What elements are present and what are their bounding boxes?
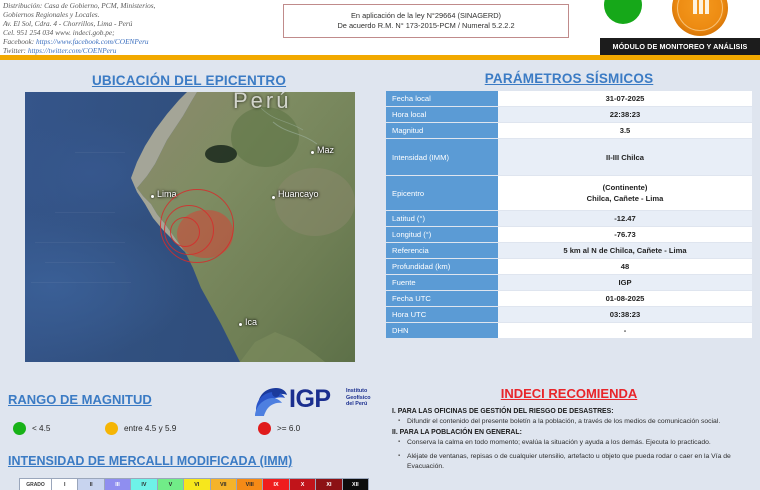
legend-label: < 4.5 — [32, 424, 50, 433]
legend-item: entre 4.5 y 5.9 — [105, 422, 176, 435]
table-row: Fuente IGP — [386, 275, 752, 290]
city-label-ica: Ica — [245, 317, 257, 327]
recommendations-title: INDECI RECOMIENDA — [378, 386, 760, 401]
param-value: 48 — [498, 259, 752, 274]
magnitude-dot-green-icon — [13, 422, 26, 435]
seismic-parameters-table: Fecha local 31-07-2025 Hora local 22:38:… — [386, 90, 752, 339]
table-row: Fecha local 31-07-2025 — [386, 91, 752, 106]
distribution-line: Distribución: Casa de Gobierno, PCM, Min… — [3, 1, 278, 10]
param-value-line-2: Chilca, Cañete - Lima — [502, 193, 748, 204]
distribution-line: Av. El Sol, Cdra. 4 - Chorrillos, Lima -… — [3, 19, 278, 28]
bulletin-page: Distribución: Casa de Gobierno, PCM, Min… — [0, 0, 760, 490]
table-row: Intensidad (IMM) II-III Chilca — [386, 139, 752, 175]
table-row: Fecha UTC 01-08-2025 — [386, 291, 752, 306]
magnitude-legend: < 4.5 entre 4.5 y 5.9 >= 6.0 — [10, 422, 370, 440]
param-value: 01-08-2025 — [498, 291, 752, 306]
epicenter-map[interactable]: Perú Lima Huancayo Maz Ica — [25, 92, 355, 362]
city-label-maz: Maz — [317, 145, 334, 155]
list-item: Conserva la calma en todo momento; evalú… — [392, 438, 752, 447]
table-row: Magnitud 3.5 — [386, 123, 752, 138]
city-dot-ica — [239, 323, 242, 326]
epicenter-map-panel: UBICACIÓN DEL EPICENTRO — [0, 60, 378, 378]
legend-label: >= 6.0 — [277, 424, 300, 433]
mercalli-cell-xii: XII — [343, 479, 368, 490]
igp-globe-icon — [254, 386, 288, 416]
module-bar-label: MÓDULO DE MONITOREO Y ANÁLISIS — [613, 42, 748, 51]
recommendations-heading-2: II. PARA LA POBLACIÓN EN GENERAL: — [392, 429, 752, 436]
epicenter-ring-inner — [170, 217, 200, 247]
param-key: Hora local — [386, 107, 498, 122]
igp-subtitle-line: Geofísico — [346, 395, 371, 402]
mercalli-cell-ii: II — [78, 479, 104, 490]
param-value: 31-07-2025 — [498, 91, 752, 106]
list-item: Difundir el contenido del presente bolet… — [392, 417, 752, 426]
param-value: 22:38:23 — [498, 107, 752, 122]
table-row: Referencia 5 km al N de Chilca, Cañete -… — [386, 243, 752, 258]
indeci-flame-icon — [699, 0, 703, 14]
table-row: Hora UTC 03:38:23 — [386, 307, 752, 322]
list-item: Aléjate de ventanas, repisas o de cualqu… — [392, 452, 752, 470]
param-key: Intensidad (IMM) — [386, 139, 498, 175]
param-key: Referencia — [386, 243, 498, 258]
param-key: Epicentro — [386, 176, 498, 210]
param-key: Fecha local — [386, 91, 498, 106]
table-row: Hora local 22:38:23 — [386, 107, 752, 122]
distribution-line: Gobiernos Regionales y Locales. — [3, 10, 278, 19]
param-value: 5 km al N de Chilca, Cañete - Lima — [498, 243, 752, 258]
indeci-flame-icon — [705, 0, 709, 14]
param-value-line-1: (Continente) — [502, 182, 748, 193]
mercalli-row-label: GRADO — [20, 479, 52, 490]
mercalli-cell-i: I — [52, 479, 78, 490]
facebook-link[interactable]: https://www.facebook.com/COENPeru — [36, 37, 149, 46]
igp-subtitle-line: del Perú — [346, 401, 371, 408]
params-section-title: PARÁMETROS SÍSMICOS — [378, 71, 760, 86]
param-value: -12.47 — [498, 211, 752, 226]
legal-notice-box: En aplicación de la ley N°29664 (SINAGER… — [283, 4, 569, 38]
mercalli-cell-x: X — [290, 479, 316, 490]
param-value: II-III Chilca — [498, 139, 752, 175]
magnitude-dot-red-icon — [258, 422, 271, 435]
map-country-label: Perú — [233, 92, 291, 114]
distribution-block: Distribución: Casa de Gobierno, PCM, Min… — [3, 1, 278, 56]
recommendations-body: I. PARA LAS OFICINAS DE GESTIÓN DEL RIES… — [392, 406, 752, 471]
param-key: Hora UTC — [386, 307, 498, 322]
table-row: Profundidad (km) 48 — [386, 259, 752, 274]
table-row: Latitud (°) -12.47 — [386, 211, 752, 226]
distribution-line: Cel. 951 254 034 www. indeci.gob.pe; — [3, 28, 278, 37]
mercalli-cell-iv: IV — [131, 479, 157, 490]
mercalli-scale-table: GRADO I II III IV V VI VII VIII IX X XI … — [19, 478, 369, 490]
indeci-logo — [672, 0, 728, 36]
mercalli-cell-vii: VII — [211, 479, 237, 490]
table-row: Longitud (°) -76.73 — [386, 227, 752, 242]
legend-item: >= 6.0 — [258, 422, 300, 435]
table-row: Epicentro (Continente) Chilca, Cañete - … — [386, 176, 752, 210]
mercalli-cell-viii: VIII — [237, 479, 263, 490]
param-value: 03:38:23 — [498, 307, 752, 322]
mercalli-cell-v: V — [158, 479, 184, 490]
green-circle-logo — [604, 0, 642, 24]
city-dot-lima — [151, 195, 154, 198]
igp-logo: IGP Instituto Geofísico del Perú — [254, 384, 378, 418]
param-key: Latitud (°) — [386, 211, 498, 226]
mercalli-cell-vi: VI — [184, 479, 210, 490]
igp-subtitle-line: Instituto — [346, 388, 371, 395]
seismic-parameters-panel: PARÁMETROS SÍSMICOS Fecha local 31-07-20… — [378, 60, 760, 378]
param-value: IGP — [498, 275, 752, 290]
param-key: Fecha UTC — [386, 291, 498, 306]
mercalli-scale-title: INTENSIDAD DE MERCALLI MODIFICADA (IMM) — [8, 454, 292, 468]
mercalli-cell-iii: III — [105, 479, 131, 490]
legend-item: < 4.5 — [13, 422, 50, 435]
indeci-flame-icon — [693, 0, 697, 14]
magnitude-range-title: RANGO DE MAGNITUD — [8, 392, 152, 407]
city-dot-huancayo — [272, 196, 275, 199]
param-key: Magnitud — [386, 123, 498, 138]
city-label-huancayo: Huancayo — [278, 189, 319, 199]
map-section-title: UBICACIÓN DEL EPICENTRO — [0, 73, 378, 88]
legal-notice-line-1: En aplicación de la ley N°29664 (SINAGER… — [351, 11, 501, 22]
param-value: 3.5 — [498, 123, 752, 138]
igp-acronym: IGP — [289, 385, 331, 414]
legal-notice-line-2: De acuerdo R.M. N° 173-2015-PCM / Numera… — [337, 21, 514, 32]
legend-label: entre 4.5 y 5.9 — [124, 424, 176, 433]
module-bar: MÓDULO DE MONITOREO Y ANÁLISIS — [600, 38, 760, 55]
page-header: Distribución: Casa de Gobierno, PCM, Min… — [0, 0, 760, 55]
param-key: Longitud (°) — [386, 227, 498, 242]
igp-subtitle: Instituto Geofísico del Perú — [346, 388, 371, 408]
param-value-multiline: (Continente) Chilca, Cañete - Lima — [498, 176, 752, 210]
param-value: -76.73 — [498, 227, 752, 242]
mercalli-cell-ix: IX — [263, 479, 289, 490]
facebook-label: Facebook: — [3, 37, 34, 46]
param-key: DHN — [386, 323, 498, 338]
recommendations-heading-1: I. PARA LAS OFICINAS DE GESTIÓN DEL RIES… — [392, 408, 752, 415]
mercalli-cell-xi: XI — [316, 479, 342, 490]
param-value: - — [498, 323, 752, 338]
magnitude-dot-amber-icon — [105, 422, 118, 435]
param-key: Profundidad (km) — [386, 259, 498, 274]
recommendations-panel: INDECI RECOMIENDA I. PARA LAS OFICINAS D… — [378, 378, 760, 490]
table-row: DHN - — [386, 323, 752, 338]
param-key: Fuente — [386, 275, 498, 290]
facebook-line: Facebook: https://www.facebook.com/COENP… — [3, 37, 278, 46]
city-dot-maz — [311, 151, 314, 154]
